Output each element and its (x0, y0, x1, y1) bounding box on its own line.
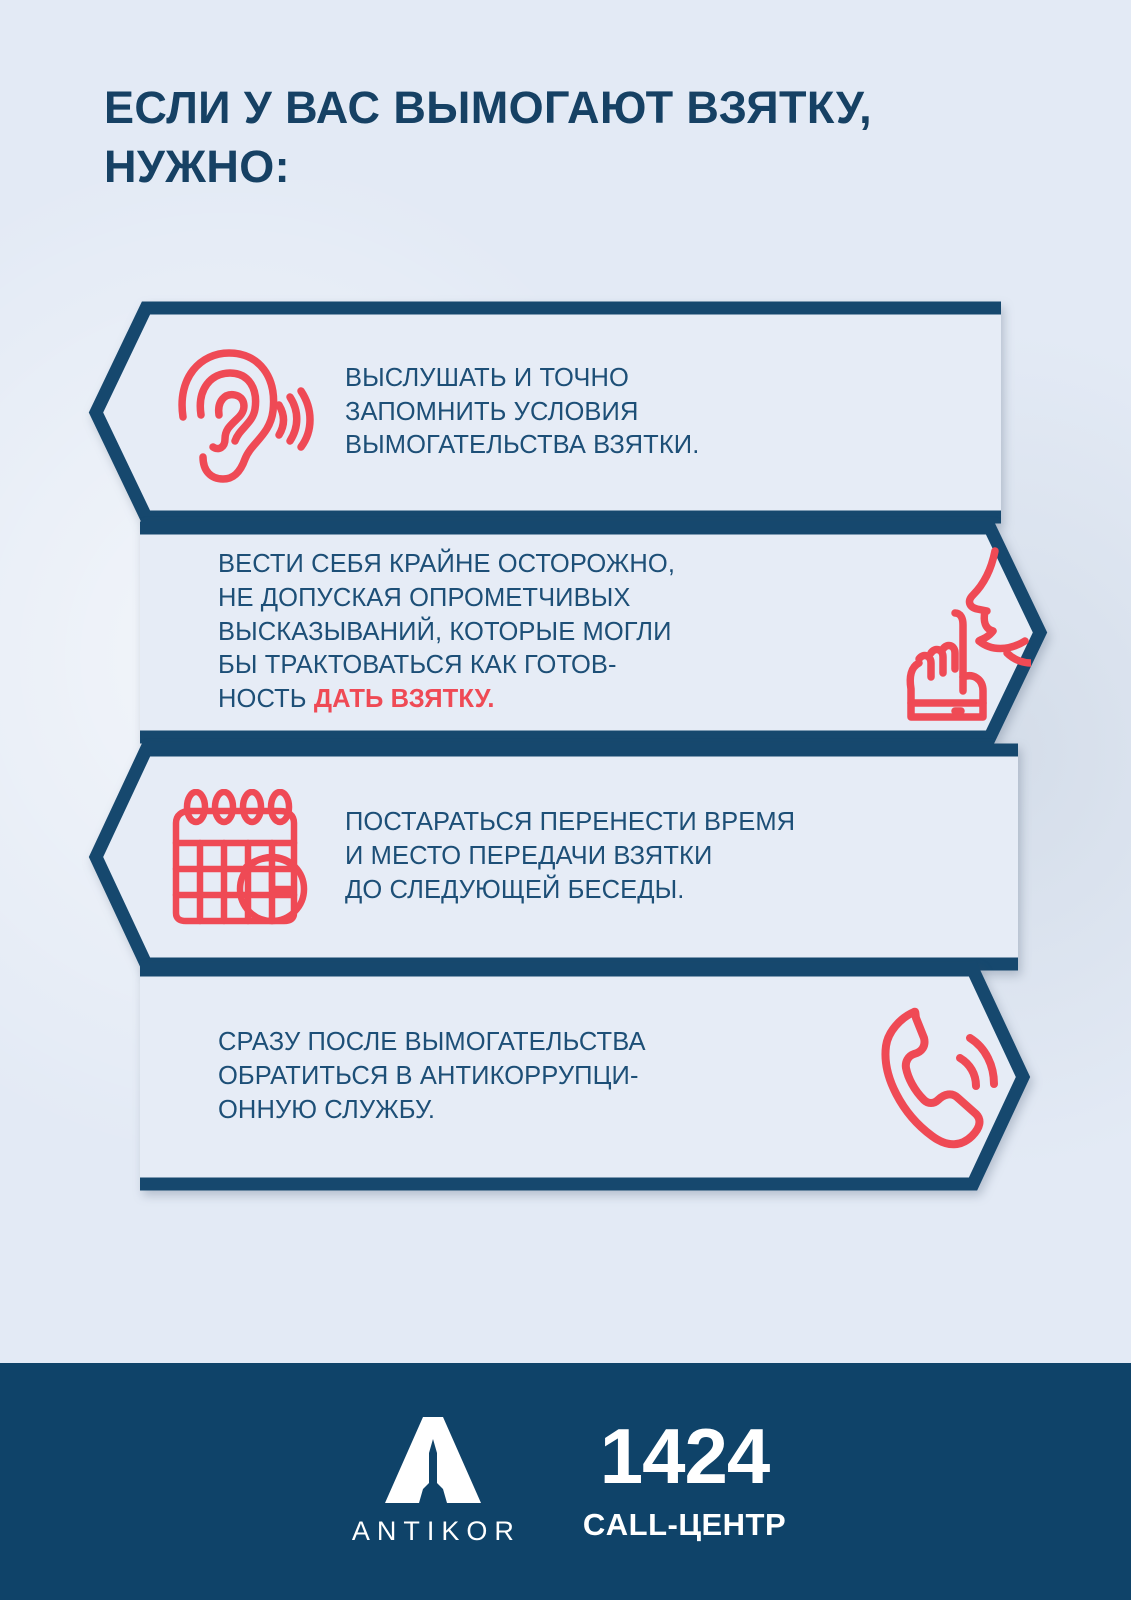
ear-icon (158, 343, 323, 483)
antikor-a-mark-icon (385, 1417, 481, 1503)
banner-step-3: ПОСТАРАТЬСЯ ПЕРЕНЕСТИ ВРЕМЯ И МЕСТО ПЕРЕ… (86, 742, 1018, 972)
banner-step-4: СРАЗУ ПОСЛЕ ВЫМОГАТЕЛЬСТВА ОБРАТИТЬСЯ В … (138, 962, 1033, 1192)
footer-band: ANTIKOR 1424 CALL-ЦЕНТР (0, 1363, 1131, 1600)
calendar-clock-icon (158, 789, 323, 925)
call-center-number: 1424 (600, 1417, 770, 1495)
page-title: ЕСЛИ У ВАС ВЫМОГАЮТ ВЗЯТКУ, НУЖНО: (104, 78, 1004, 197)
phone-call-icon (863, 1004, 1033, 1150)
call-center-block: 1424 CALL-ЦЕНТР (583, 1417, 786, 1547)
shush-finger-icon (890, 545, 1040, 721)
antikor-logo-text: ANTIKOR (345, 1516, 521, 1547)
banner-2-text: ВЕСТИ СЕБЯ КРАЙНЕ ОСТОРОЖНО, НЕ ДОПУСКАЯ… (218, 548, 675, 718)
banner-2-text-highlight: ДАТЬ ВЗЯТКУ. (314, 685, 495, 713)
banner-step-2: ВЕСТИ СЕБЯ КРАЙНЕ ОСТОРОЖНО, НЕ ДОПУСКАЯ… (138, 520, 1050, 745)
antikor-logo: ANTIKOR (345, 1417, 521, 1547)
banner-step-1: ВЫСЛУШАТЬ И ТОЧНО ЗАПОМНИТЬ УСЛОВИЯ ВЫМО… (86, 300, 1001, 525)
call-center-label: CALL-ЦЕНТР (583, 1507, 786, 1543)
banner-1-text: ВЫСЛУШАТЬ И ТОЧНО ЗАПОМНИТЬ УСЛОВИЯ ВЫМО… (345, 362, 699, 464)
banner-3-text: ПОСТАРАТЬСЯ ПЕРЕНЕСТИ ВРЕМЯ И МЕСТО ПЕРЕ… (345, 806, 795, 908)
banner-4-text: СРАЗУ ПОСЛЕ ВЫМОГАТЕЛЬСТВА ОБРАТИТЬСЯ В … (218, 1026, 646, 1128)
